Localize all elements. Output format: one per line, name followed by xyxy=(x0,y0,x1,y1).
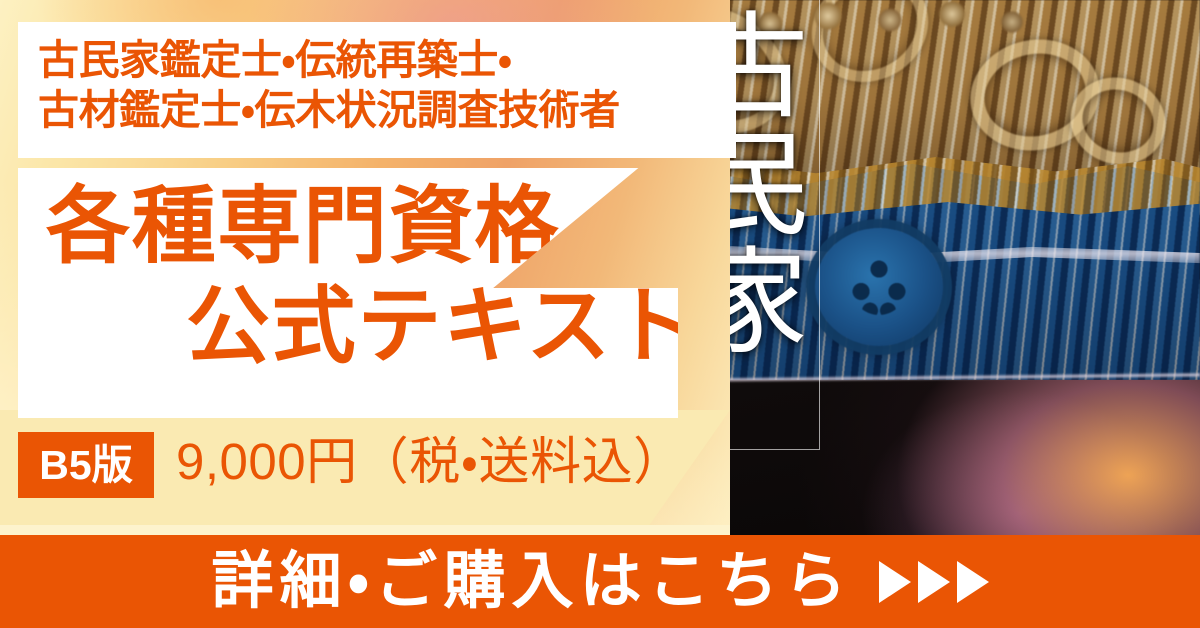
play-arrow-icon xyxy=(918,561,950,603)
headline-panel: 各種専門資格 公式テキスト xyxy=(18,168,678,418)
play-arrow-icon xyxy=(957,561,989,603)
headline-line-2: 公式テキスト xyxy=(186,284,698,368)
headline-line-1: 各種専門資格 xyxy=(46,184,560,268)
promo-banner: 古民家 伝統構法 古民家活用のための調査と再生の 各種専門資格 公式テキスト 古… xyxy=(0,0,1200,628)
cta-arrow-group xyxy=(879,561,989,603)
cta-separator-strip xyxy=(0,525,730,535)
price-amount: 9,000円（税・送料込） xyxy=(176,428,685,495)
certification-line-2: 古材鑑定士・伝木状況調査技術者 xyxy=(38,84,620,136)
format-badge-label: B5版 xyxy=(39,445,132,486)
play-arrow-icon xyxy=(879,561,911,603)
format-badge: B5版 xyxy=(18,432,154,498)
family-crest-medallion xyxy=(815,228,943,346)
certifications-panel: 古民家鑑定士・伝統再築士・ 古材鑑定士・伝木状況調査技術者 xyxy=(18,22,736,158)
certification-line-1: 古民家鑑定士・伝統再築士・ xyxy=(38,34,512,86)
cta-label: 詳細・ご購入はこちら xyxy=(211,551,852,613)
cta-bar[interactable]: 詳細・ご購入はこちら xyxy=(0,535,1200,628)
